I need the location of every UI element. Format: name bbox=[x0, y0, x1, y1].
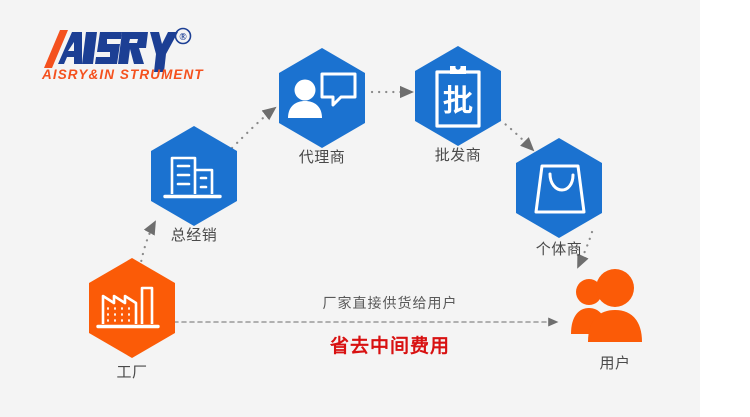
node-label-user: 用户 bbox=[565, 352, 665, 373]
node-wholesaler[interactable]: 批 bbox=[415, 46, 501, 146]
node-label-agent: 代理商 bbox=[272, 146, 372, 167]
infographic-canvas: ® AISRY&IN STRUMENT bbox=[0, 0, 750, 417]
direct-supply-note: 厂家直接供货给用户 bbox=[265, 293, 515, 313]
clipboard-glyph: 批 bbox=[443, 84, 473, 119]
node-label-factory: 工厂 bbox=[82, 361, 182, 382]
node-factory[interactable] bbox=[89, 258, 175, 358]
node-distributor[interactable] bbox=[151, 126, 237, 226]
node-label-distributor: 总经销 bbox=[144, 224, 244, 245]
users-icon bbox=[571, 269, 642, 342]
node-user[interactable] bbox=[571, 269, 642, 342]
node-retailer[interactable] bbox=[516, 138, 602, 238]
save-cost-note: 省去中间费用 bbox=[265, 331, 515, 358]
node-agent[interactable] bbox=[279, 48, 365, 148]
node-label-retailer: 个体商 bbox=[509, 238, 609, 259]
connector-distributor-to-agent bbox=[232, 108, 275, 148]
node-label-wholesaler: 批发商 bbox=[408, 144, 508, 165]
